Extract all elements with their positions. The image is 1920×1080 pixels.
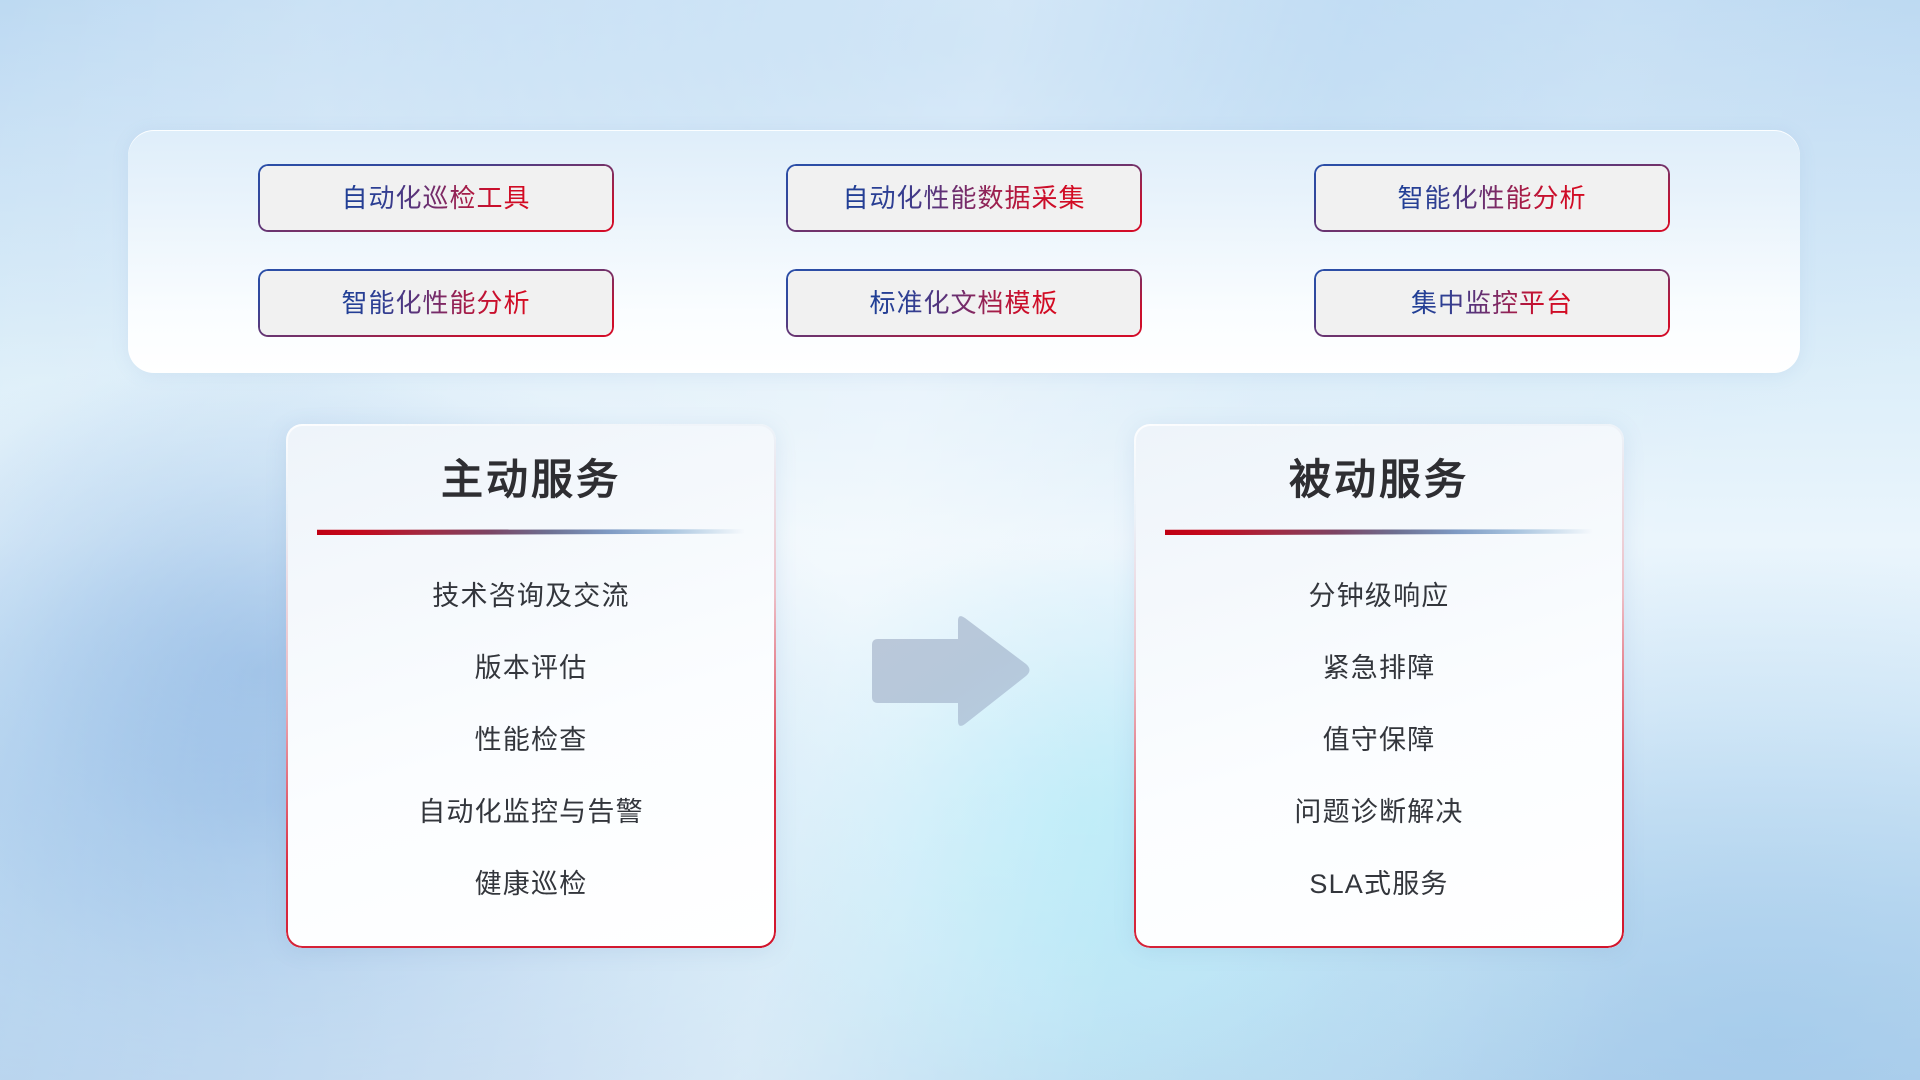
capability-pill-6[interactable]: 集中监控平台 [1314,269,1670,337]
flow-arrow [866,612,1034,732]
title-divider [317,526,745,528]
service-card-title: 被动服务 [1289,456,1469,504]
service-list-item: 问题诊断解决 [1294,776,1463,848]
service-card-proactive: 主动服务 技术咨询及交流 版本评估 性能检查 自动化监控与告警 健康巡检 [286,424,776,948]
capability-pill-5[interactable]: 标准化文档模板 [786,269,1142,337]
service-list-item: 健康巡检 [475,848,588,920]
capability-panel: 自动化巡检工具 自动化性能数据采集 智能化性能分析 智能化性能分析 标准化文档模… [128,130,1800,373]
service-item-list: 技术咨询及交流 版本评估 性能检查 自动化监控与告警 健康巡检 [316,556,746,920]
capability-pill-label: 智能化性能分析 [1397,185,1586,211]
capability-pill-label: 标准化文档模板 [869,290,1058,316]
service-list-item: 性能检查 [475,704,588,776]
service-list-item: 版本评估 [475,632,588,704]
service-list-item: 技术咨询及交流 [432,560,629,632]
capability-pill-grid: 自动化巡检工具 自动化性能数据采集 智能化性能分析 智能化性能分析 标准化文档模… [128,130,1800,373]
title-divider [1165,526,1593,528]
capability-pill-label: 自动化巡检工具 [341,185,530,211]
service-card-title: 主动服务 [441,456,621,504]
capability-pill-2[interactable]: 自动化性能数据采集 [786,164,1142,232]
capability-pill-3[interactable]: 智能化性能分析 [1314,164,1670,232]
diagram-stage: 自动化巡检工具 自动化性能数据采集 智能化性能分析 智能化性能分析 标准化文档模… [0,0,1920,1080]
capability-pill-label: 智能化性能分析 [341,290,530,316]
service-card-reactive: 被动服务 分钟级响应 紧急排障 值守保障 问题诊断解决 SLA式服务 [1134,424,1624,948]
title-divider-bar [1165,529,1593,535]
service-list-item: 紧急排障 [1323,632,1436,704]
service-item-list: 分钟级响应 紧急排障 值守保障 问题诊断解决 SLA式服务 [1164,556,1594,920]
service-list-item: 自动化监控与告警 [418,776,644,848]
capability-pill-4[interactable]: 智能化性能分析 [258,269,614,337]
capability-pill-1[interactable]: 自动化巡检工具 [258,164,614,232]
title-divider-bar [317,529,745,535]
service-list-item: 分钟级响应 [1309,560,1450,632]
service-card-inner: 被动服务 分钟级响应 紧急排障 值守保障 问题诊断解决 SLA式服务 [1134,424,1624,948]
arrow-right-icon [866,612,1034,732]
capability-pill-label: 集中监控平台 [1411,290,1573,316]
service-list-item: 值守保障 [1323,704,1436,776]
service-list-item: SLA式服务 [1309,848,1448,920]
service-card-inner: 主动服务 技术咨询及交流 版本评估 性能检查 自动化监控与告警 健康巡检 [286,424,776,948]
capability-pill-label: 自动化性能数据采集 [842,185,1085,211]
